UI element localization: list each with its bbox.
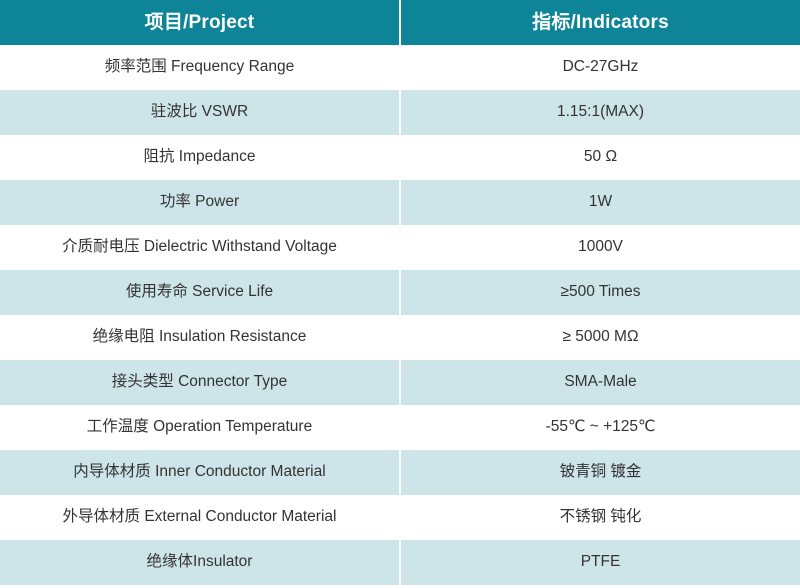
- cell-project: 绝缘体Insulator: [0, 540, 399, 585]
- cell-project: 工作温度 Operation Temperature: [0, 405, 399, 450]
- cell-project: 绝缘电阻 Insulation Resistance: [0, 315, 399, 360]
- table-header: 项目/Project 指标/Indicators: [0, 0, 800, 45]
- cell-project: 接头类型 Connector Type: [0, 360, 399, 405]
- table-row: 绝缘电阻 Insulation Resistance≥ 5000 MΩ: [0, 315, 800, 360]
- cell-project: 介质耐电压 Dielectric Withstand Voltage: [0, 225, 399, 270]
- table-body: 频率范围 Frequency RangeDC-27GHz驻波比 VSWR1.15…: [0, 45, 800, 585]
- table-row: 内导体材质 Inner Conductor Material铍青铜 镀金: [0, 450, 800, 495]
- table-header-row: 项目/Project 指标/Indicators: [0, 0, 800, 45]
- table-row: 外导体材质 External Conductor Material不锈钢 钝化: [0, 495, 800, 540]
- table-row: 驻波比 VSWR1.15:1(MAX): [0, 90, 800, 135]
- cell-indicator: PTFE: [401, 540, 800, 585]
- cell-indicator: DC-27GHz: [401, 45, 800, 90]
- cell-project: 使用寿命 Service Life: [0, 270, 399, 315]
- cell-indicator: 1000V: [401, 225, 800, 270]
- column-header-project: 项目/Project: [0, 0, 399, 45]
- table-row: 阻抗 Impedance50 Ω: [0, 135, 800, 180]
- cell-indicator: 1W: [401, 180, 800, 225]
- cell-project: 阻抗 Impedance: [0, 135, 399, 180]
- cell-project: 频率范围 Frequency Range: [0, 45, 399, 90]
- cell-indicator: ≥500 Times: [401, 270, 800, 315]
- cell-project: 驻波比 VSWR: [0, 90, 399, 135]
- table-row: 频率范围 Frequency RangeDC-27GHz: [0, 45, 800, 90]
- column-header-indicators: 指标/Indicators: [401, 0, 800, 45]
- specification-table: 项目/Project 指标/Indicators 频率范围 Frequency …: [0, 0, 800, 585]
- table-row: 介质耐电压 Dielectric Withstand Voltage1000V: [0, 225, 800, 270]
- cell-indicator: 1.15:1(MAX): [401, 90, 800, 135]
- cell-indicator: -55℃ ~ +125℃: [401, 405, 800, 450]
- cell-indicator: SMA-Male: [401, 360, 800, 405]
- cell-indicator: 不锈钢 钝化: [401, 495, 800, 540]
- cell-indicator: 50 Ω: [401, 135, 800, 180]
- cell-indicator: ≥ 5000 MΩ: [401, 315, 800, 360]
- cell-project: 外导体材质 External Conductor Material: [0, 495, 399, 540]
- table-row: 功率 Power1W: [0, 180, 800, 225]
- cell-project: 功率 Power: [0, 180, 399, 225]
- table-row: 工作温度 Operation Temperature-55℃ ~ +125℃: [0, 405, 800, 450]
- table-row: 接头类型 Connector TypeSMA-Male: [0, 360, 800, 405]
- cell-indicator: 铍青铜 镀金: [401, 450, 800, 495]
- table-row: 绝缘体InsulatorPTFE: [0, 540, 800, 585]
- table-row: 使用寿命 Service Life≥500 Times: [0, 270, 800, 315]
- cell-project: 内导体材质 Inner Conductor Material: [0, 450, 399, 495]
